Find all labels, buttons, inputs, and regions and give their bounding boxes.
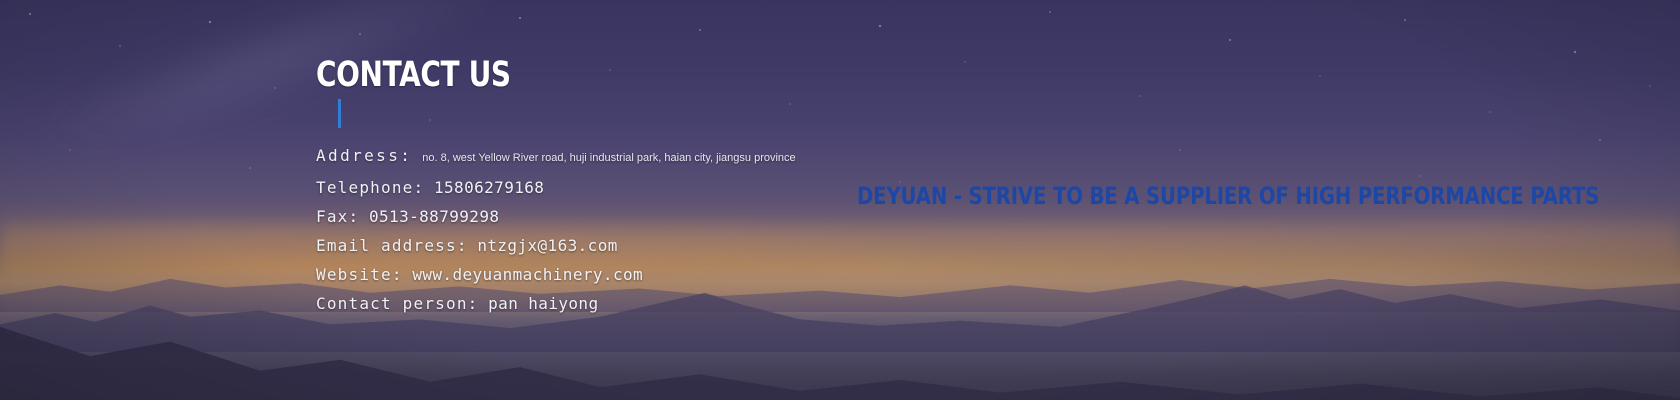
fax-label: Fax: xyxy=(316,207,359,226)
contact-line-email: Email address: ntzgjx@163.com xyxy=(316,231,1136,260)
contact-line-contact-person: Contact person: pan haiyong xyxy=(316,289,1136,318)
contact-info-list: Address:no. 8, west Yellow River road, h… xyxy=(316,141,1136,318)
website-value[interactable]: www.deyuanmachinery.com xyxy=(412,265,643,284)
address-value: no. 8, west Yellow River road, huji indu… xyxy=(422,152,795,164)
telephone-value[interactable]: 15806279168 xyxy=(434,178,544,197)
banner-content: CONTACT US Address:no. 8, west Yellow Ri… xyxy=(0,0,1680,400)
accent-divider xyxy=(338,99,341,128)
contact-person-label: Contact person: xyxy=(316,294,479,313)
fax-value: 0513-88799298 xyxy=(369,207,499,226)
email-label: Email address: xyxy=(316,236,468,255)
contact-person-value: pan haiyong xyxy=(488,294,598,313)
website-label: Website: xyxy=(316,265,403,284)
telephone-label: Telephone: xyxy=(316,178,424,197)
email-value[interactable]: ntzgjx@163.com xyxy=(477,236,617,255)
contact-line-address: Address:no. 8, west Yellow River road, h… xyxy=(316,141,1136,173)
company-slogan: DEYUAN - STRIVE TO BE A SUPPLIER OF HIGH… xyxy=(857,184,1599,208)
page-title: CONTACT US xyxy=(316,58,511,93)
contact-line-website: Website: www.deyuanmachinery.com xyxy=(316,260,1136,289)
address-label: Address: xyxy=(316,146,412,165)
